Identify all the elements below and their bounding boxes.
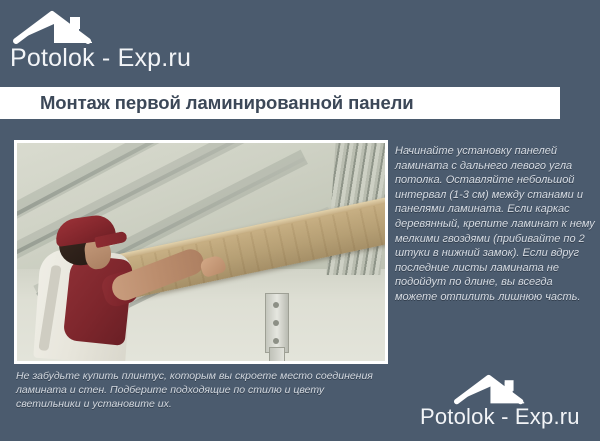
- site-logo-top[interactable]: Potolok - Exp.ru: [6, 10, 236, 78]
- installation-photo: [17, 143, 385, 361]
- wall-bracket-lower: [269, 347, 285, 361]
- bracket-hole: [273, 320, 279, 326]
- brand-name: Potolok - Exp.ru: [10, 44, 236, 73]
- photo-caption: Не забудьте купить плинтус, которым вы с…: [16, 369, 388, 411]
- site-logo-bottom[interactable]: Potolok - Exp.ru: [420, 374, 596, 436]
- wall-bracket: [265, 293, 289, 353]
- instruction-paragraph: Начинайте установку панелей ламината с д…: [395, 144, 595, 305]
- brand-name: Potolok - Exp.ru: [420, 404, 596, 430]
- page-title: Монтаж первой ламинированной панели: [40, 92, 414, 114]
- worker-arm: [108, 245, 207, 304]
- title-banner: Монтаж первой ламинированной панели: [0, 87, 560, 119]
- bracket-hole: [273, 302, 279, 308]
- house-roof-icon: [12, 10, 104, 46]
- worker-figure: [33, 211, 203, 361]
- bracket-hole: [273, 338, 279, 344]
- house-roof-icon: [452, 374, 536, 406]
- photo-frame: [14, 140, 388, 364]
